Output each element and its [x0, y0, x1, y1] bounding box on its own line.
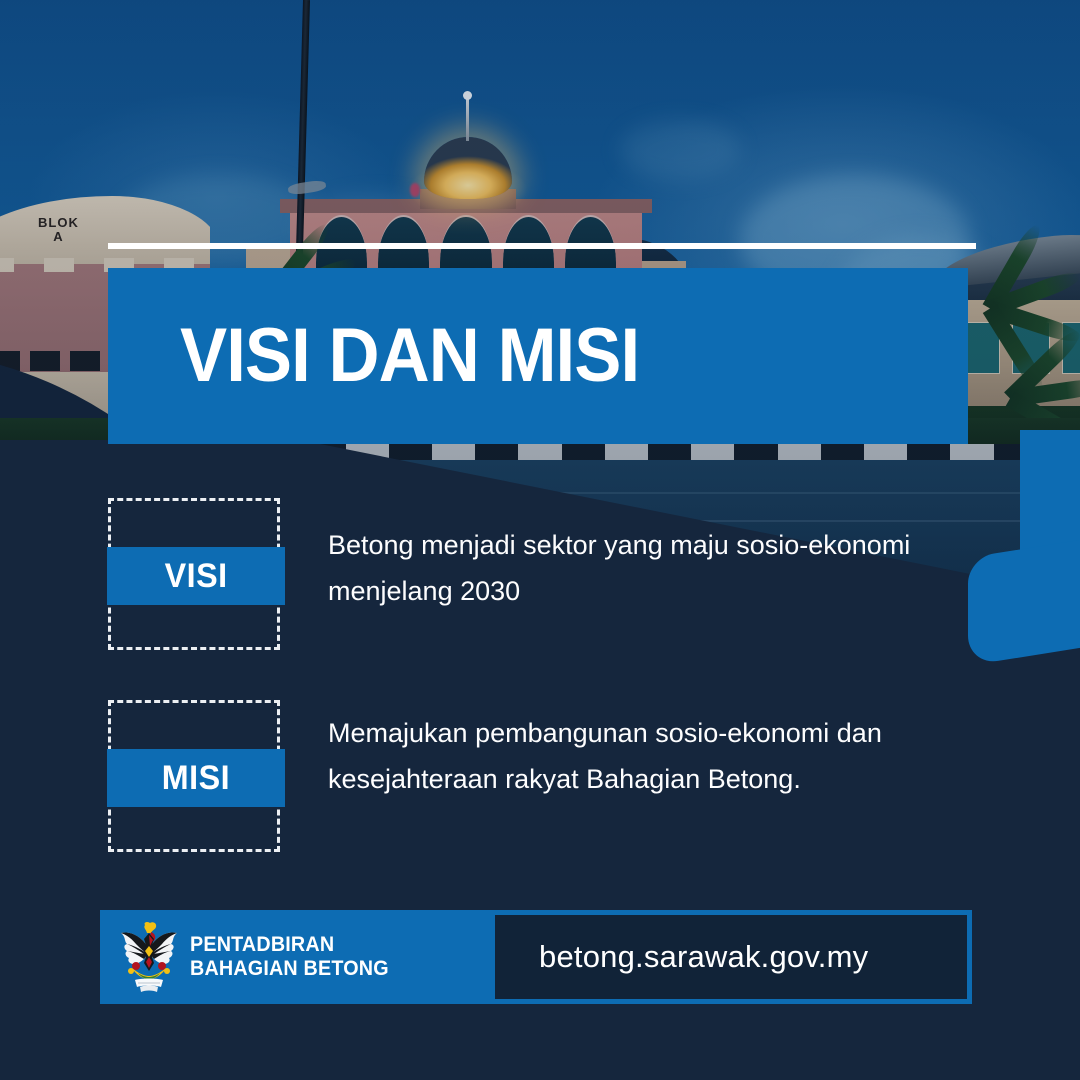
- visi-tag-band: VISI: [107, 547, 285, 605]
- misi-tag-label: MISI: [162, 759, 230, 798]
- visi-text: Betong menjadi sektor yang maju sosio-ek…: [328, 498, 928, 615]
- spire: [466, 97, 469, 141]
- footer-org-line1: PENTADBIRAN: [190, 933, 389, 957]
- visi-tag-box: VISI: [108, 498, 280, 650]
- url-panel[interactable]: betong.sarawak.gov.my: [495, 915, 967, 999]
- blok-a-label: BLOK A: [38, 216, 79, 243]
- footer-bar: PENTADBIRAN BAHAGIAN BETONG betong.saraw…: [100, 910, 972, 1004]
- footer-org-line2: BAHAGIAN BETONG: [190, 957, 389, 981]
- spire-tip: [463, 91, 472, 100]
- poster-canvas: BLOK A KOMPLEKS PEJABAT KERAJAAN: [0, 0, 1080, 1080]
- misi-row: MISI Memajukan pembangunan sosio-ekonomi…: [108, 700, 928, 852]
- website-url[interactable]: betong.sarawak.gov.my: [539, 939, 868, 975]
- header-divider-rule: [108, 243, 976, 249]
- golden-dome: [424, 137, 512, 199]
- footer-brand: PENTADBIRAN BAHAGIAN BETONG: [100, 910, 490, 1004]
- misi-tag-band: MISI: [107, 749, 285, 807]
- visi-row: VISI Betong menjadi sektor yang maju sos…: [108, 498, 928, 650]
- footer-url-frame: betong.sarawak.gov.my: [490, 910, 972, 1004]
- footer-org-name: PENTADBIRAN BAHAGIAN BETONG: [190, 933, 389, 980]
- upper-arcade: [316, 215, 616, 269]
- misi-tag-box: MISI: [108, 700, 280, 852]
- dome-accent-light: [410, 183, 420, 197]
- page-title: VISI DAN MISI: [180, 318, 639, 394]
- visi-tag-label: VISI: [165, 557, 228, 596]
- misi-text: Memajukan pembangunan sosio-ekonomi dan …: [328, 700, 928, 803]
- title-banner: VISI DAN MISI: [108, 268, 968, 444]
- sarawak-coat-of-arms-icon: [118, 921, 180, 993]
